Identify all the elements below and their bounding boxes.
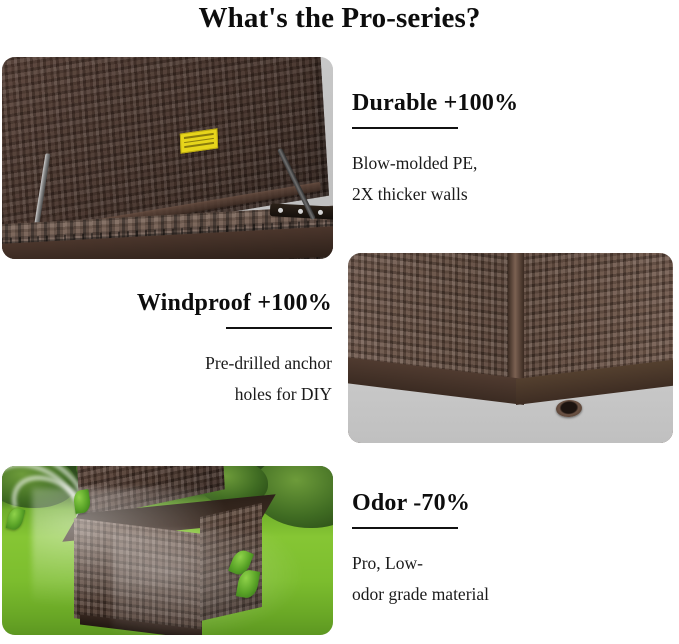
photo-wicker-corner bbox=[348, 253, 673, 443]
feature-description-line: 2X thicker walls bbox=[352, 179, 652, 210]
feature-divider bbox=[352, 127, 458, 129]
feature-description-line: holes for DIY bbox=[32, 379, 332, 410]
photo-lawn-odor bbox=[2, 466, 333, 635]
feature-description-line: Blow-molded PE, bbox=[352, 148, 652, 179]
feature-durable: Durable +100% Blow-molded PE, 2X thicker… bbox=[352, 88, 652, 210]
photo-open-lid bbox=[2, 57, 333, 259]
feature-divider bbox=[352, 527, 458, 529]
feature-description: Pro, Low- odor grade material bbox=[352, 548, 652, 610]
feature-description-line: Pro, Low- bbox=[352, 548, 652, 579]
fresh-air-mist bbox=[112, 530, 302, 635]
feature-description-line: Pre-drilled anchor bbox=[32, 348, 332, 379]
feature-title: Odor -70% bbox=[352, 488, 652, 518]
feature-description: Blow-molded PE, 2X thicker walls bbox=[352, 148, 652, 210]
feature-windproof: Windproof +100% Pre-drilled anchor holes… bbox=[32, 288, 332, 410]
page-title: What's the Pro-series? bbox=[0, 0, 679, 38]
feature-title: Windproof +100% bbox=[32, 288, 332, 318]
feature-description-line: odor grade material bbox=[352, 579, 652, 610]
feature-divider bbox=[226, 327, 332, 329]
feature-odor: Odor -70% Pro, Low- odor grade material bbox=[352, 488, 652, 610]
feature-title: Durable +100% bbox=[352, 88, 652, 118]
feature-description: Pre-drilled anchor holes for DIY bbox=[32, 348, 332, 410]
